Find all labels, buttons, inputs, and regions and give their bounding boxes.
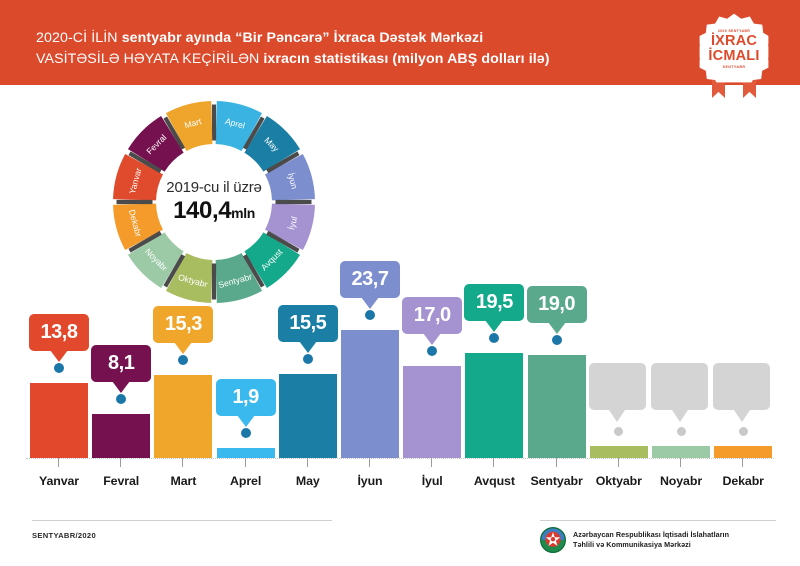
badge-line1: İXRAC <box>711 34 757 49</box>
ixrac-icmali-badge: 2020 SENTYABR İXRAC İCMALI SENTYABR <box>690 8 778 100</box>
value-label: 19,5 <box>464 284 524 321</box>
bar-marker-dot <box>427 346 437 356</box>
bar-marker-dot <box>489 333 499 343</box>
axis-tick <box>618 458 619 467</box>
value-label: 13,8 <box>29 314 89 351</box>
value-label: 15,3 <box>153 306 213 343</box>
value-label: 17,0 <box>402 297 462 334</box>
value-callout-fevral: 8,1 <box>91 345 151 382</box>
bar-noyabr[interactable] <box>652 446 710 458</box>
footer-divider-right <box>540 520 776 521</box>
infographic-root: 2020-Cİ İLİN sentyabr ayında “Bir Pəncər… <box>0 0 800 566</box>
axis-tick <box>307 458 308 467</box>
title-line2-bold: ixracın statistikası (milyon ABŞ dolları… <box>263 51 549 67</box>
callout-tail <box>423 333 441 345</box>
bar-marker-dot <box>739 427 748 436</box>
bar-yanvar[interactable] <box>30 383 88 458</box>
bar-mart[interactable] <box>154 375 212 458</box>
footer-organization: Azərbaycan Respublikası İqtisadi İslahat… <box>540 527 729 553</box>
bar-marker-dot <box>303 354 313 364</box>
value-label: 1,9 <box>216 379 276 416</box>
callout-tail <box>361 297 379 309</box>
x-axis-label: Dekabr <box>706 474 780 488</box>
bar-marker-dot <box>54 363 64 373</box>
callout-tail <box>299 341 317 353</box>
value-callout-i̇yun: 23,7 <box>340 261 400 298</box>
title-line1-bold: sentyabr ayında “Bir Pəncərə” İxraca Dəs… <box>122 30 484 46</box>
footer-org-line2: Təhlili və Kommunikasiya Mərkəzi <box>573 540 729 550</box>
title-line1-light: 2020-Cİ İLİN <box>36 30 122 46</box>
bar-i̇yun[interactable] <box>341 330 399 458</box>
callout-tail <box>174 342 192 354</box>
bar-marker-dot <box>552 335 562 345</box>
badge-line2: İCMALI <box>708 49 759 64</box>
bar-marker-dot <box>116 394 126 404</box>
header-banner: 2020-Cİ İLİN sentyabr ayında “Bir Pəncər… <box>0 0 800 85</box>
value-callout-i̇yul: 17,0 <box>402 297 462 334</box>
axis-tick <box>120 458 121 467</box>
badge-text-group: 2020 SENTYABR İXRAC İCMALI SENTYABR <box>694 10 774 88</box>
callout-tail <box>609 410 625 422</box>
value-label: 23,7 <box>340 261 400 298</box>
badge-bottom-small: SENTYABR <box>723 64 746 70</box>
bar-marker-dot <box>178 355 188 365</box>
value-callout-aprel: 1,9 <box>216 379 276 416</box>
bar-may[interactable] <box>279 374 337 458</box>
axis-tick <box>58 458 59 467</box>
bar-marker-dot <box>241 428 251 438</box>
bar-aprel[interactable] <box>217 448 275 458</box>
value-label: 19,0 <box>527 286 587 323</box>
callout-tail <box>50 350 68 362</box>
footer-date: SENTYABR/2020 <box>32 531 96 540</box>
bar-marker-dot <box>677 427 686 436</box>
callout-tail <box>734 410 750 422</box>
empty-callout-dekabr <box>713 363 770 410</box>
callout-tail <box>548 322 566 334</box>
axis-tick <box>369 458 370 467</box>
value-label: 8,1 <box>91 345 151 382</box>
page-title: 2020-Cİ İLİN sentyabr ayında “Bir Pəncər… <box>36 28 636 70</box>
bar-sentyabr[interactable] <box>528 355 586 458</box>
value-callout-yanvar: 13,8 <box>29 314 89 351</box>
footer-divider-left <box>32 520 332 521</box>
empty-callout-oktyabr <box>589 363 646 410</box>
footer-org-line1: Azərbaycan Respublikası İqtisadi İslahat… <box>573 530 729 540</box>
callout-tail <box>672 410 688 422</box>
bar-i̇yul[interactable] <box>403 366 461 458</box>
title-line2-light: VASİTƏSİLƏ HƏYATA KEÇİRİLƏN <box>36 51 263 67</box>
empty-callout-noyabr <box>651 363 708 410</box>
callout-tail <box>485 320 503 332</box>
value-callout-avqust: 19,5 <box>464 284 524 321</box>
callout-tail <box>237 415 255 427</box>
axis-tick <box>742 458 743 467</box>
value-label: 15,5 <box>278 305 338 342</box>
bar-oktyabr[interactable] <box>590 446 648 458</box>
value-callout-mart: 15,3 <box>153 306 213 343</box>
axis-tick <box>556 458 557 467</box>
bar-marker-dot <box>614 427 623 436</box>
axis-tick <box>245 458 246 467</box>
azerbaijan-emblem-icon <box>540 527 566 553</box>
axis-tick <box>493 458 494 467</box>
axis-tick <box>680 458 681 467</box>
bar-marker-dot <box>365 310 375 320</box>
value-callout-may: 15,5 <box>278 305 338 342</box>
axis-tick <box>431 458 432 467</box>
callout-tail <box>112 381 130 393</box>
bar-avqust[interactable] <box>465 353 523 458</box>
chart-baseline <box>26 458 774 459</box>
footer-org-name: Azərbaycan Respublikası İqtisadi İslahat… <box>573 530 729 549</box>
value-callout-sentyabr: 19,0 <box>527 286 587 323</box>
bar-dekabr[interactable] <box>714 446 772 458</box>
monthly-bar-chart: Yanvar13,8Fevral8,1Mart15,3Aprel1,9May15… <box>0 270 800 510</box>
axis-tick <box>182 458 183 467</box>
bar-fevral[interactable] <box>92 414 150 458</box>
